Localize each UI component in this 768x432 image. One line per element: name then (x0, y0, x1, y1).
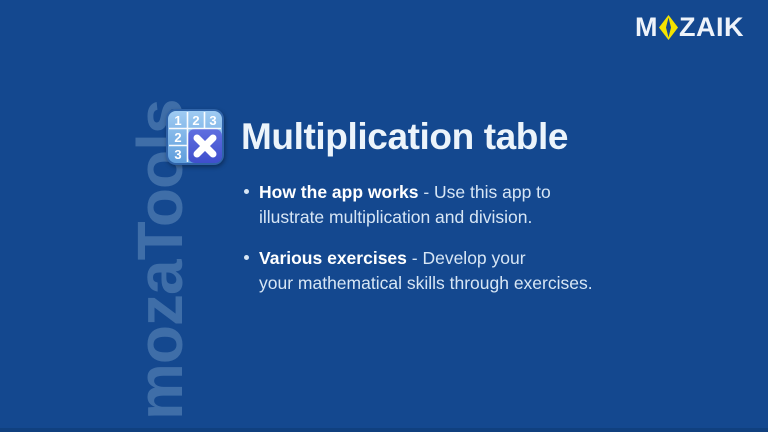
bullet-lead: Various exercises (259, 248, 407, 268)
feature-list: How the app works - Use this app to illu… (243, 180, 665, 295)
mozatools-watermark: mozaTools (0, 0, 160, 432)
list-item: Various exercises - Develop your your ma… (243, 246, 665, 296)
bullet-text-line1: Develop your (422, 248, 525, 268)
svg-text:2: 2 (192, 113, 199, 128)
bullet-lead: How the app works (259, 182, 418, 202)
yellow-diamond-icon (659, 15, 678, 40)
bullet-text-line1: Use this app to (434, 182, 551, 202)
svg-text:3: 3 (174, 147, 181, 162)
bullet-dash: - (418, 182, 434, 202)
svg-text:3: 3 (209, 113, 216, 128)
list-item: How the app works - Use this app to illu… (243, 180, 665, 230)
bullet-dot-icon (244, 255, 249, 260)
bullet-text-line2: illustrate multiplication and division. (259, 205, 665, 230)
mozaik-logo: M ZAIK (635, 12, 744, 42)
svg-text:1: 1 (174, 113, 181, 128)
content-block: 1 2 3 2 3 Multiplication table (165, 108, 665, 295)
page-title: Multiplication table (241, 118, 568, 157)
slide-canvas: M ZAIK mozaTools (0, 0, 768, 432)
brand-wordmark: M ZAIK (635, 14, 744, 41)
title-row: 1 2 3 2 3 Multiplication table (165, 108, 665, 166)
brand-letters-zaik: ZAIK (679, 14, 744, 41)
bullet-dash: - (407, 248, 423, 268)
multiplication-table-app-icon: 1 2 3 2 3 (165, 108, 225, 166)
bottom-edge-strip (0, 428, 768, 432)
bullet-text-line2: your mathematical skills through exercis… (259, 271, 665, 296)
bullet-dot-icon (244, 189, 249, 194)
brand-letter-m: M (635, 14, 658, 41)
svg-text:2: 2 (174, 130, 181, 145)
